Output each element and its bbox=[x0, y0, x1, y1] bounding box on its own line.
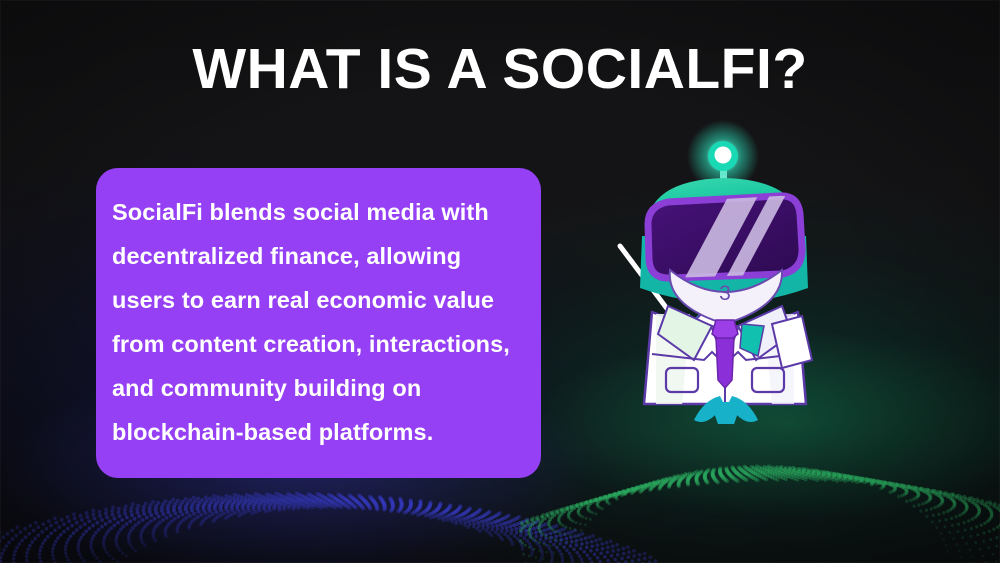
coat-button bbox=[721, 372, 730, 381]
description-card: SocialFi blends social media with decent… bbox=[96, 168, 541, 478]
antenna-orb-core bbox=[715, 147, 732, 164]
emblem-number: 3 bbox=[719, 282, 731, 305]
robot-mascot: 3 bbox=[612, 128, 872, 438]
description-text: SocialFi blends social media with decent… bbox=[112, 190, 515, 454]
slide-canvas: WHAT IS A SOCIALFI? SocialFi blends soci… bbox=[0, 0, 1000, 563]
robot-legs bbox=[710, 402, 742, 424]
page-title: WHAT IS A SOCIALFI? bbox=[0, 40, 1000, 100]
